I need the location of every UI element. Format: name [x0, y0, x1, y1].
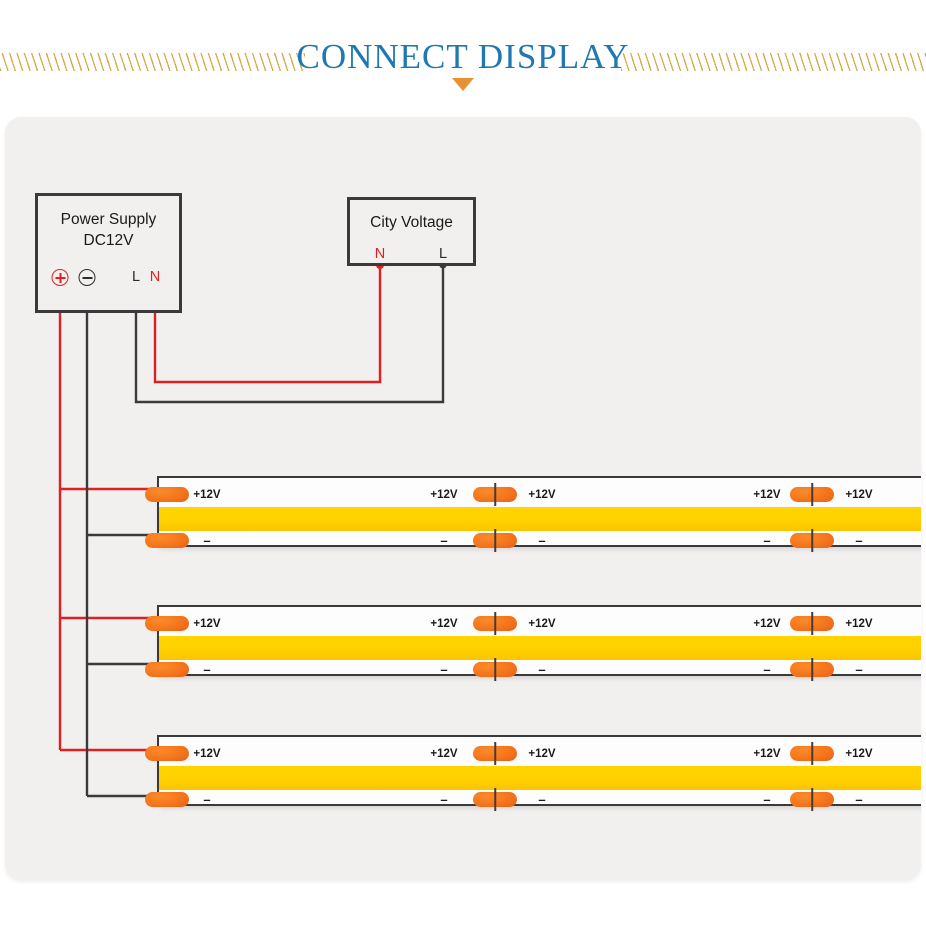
cut-line-marker [811, 788, 813, 811]
strip-label-minus: – [763, 533, 770, 548]
strip-label-plus: +12V [845, 618, 872, 630]
strip-label-minus: – [763, 662, 770, 677]
strip-label-minus: – [763, 792, 770, 807]
solder-pad-positive[interactable] [145, 746, 189, 761]
strip-label-plus: +12V [528, 748, 555, 760]
strip-label-plus: +12V [430, 748, 457, 760]
triangle-down-icon [452, 78, 474, 91]
terminal-label-city-neutral: N [375, 247, 385, 262]
strip-label-plus: +12V [528, 489, 555, 501]
strip-label-plus: +12V [753, 489, 780, 501]
strip-label-minus: – [538, 533, 545, 548]
cut-line-marker [811, 612, 813, 635]
strip-label-plus: +12V [193, 748, 220, 760]
strip-label-plus: +12V [528, 618, 555, 630]
cob-light-band [159, 766, 921, 790]
strip-label-plus: +12V [430, 489, 457, 501]
wiring-diagram: Power Supply DC12V L N City Voltage N L … [5, 117, 921, 880]
solder-pad-negative[interactable] [145, 533, 189, 548]
strip-label-minus: – [538, 792, 545, 807]
strip-label-plus: +12V [753, 618, 780, 630]
cut-line-marker [494, 788, 496, 811]
cut-line-marker [494, 612, 496, 635]
solder-pad-negative[interactable] [145, 792, 189, 807]
led-strip-row-1[interactable]: +12V – +12V – +12V – +12V – +12V – [157, 476, 921, 547]
solder-pad-negative[interactable] [145, 662, 189, 677]
strip-label-minus: – [855, 792, 862, 807]
cob-light-band [159, 636, 921, 660]
strip-label-plus: +12V [845, 748, 872, 760]
cut-line-marker [811, 658, 813, 681]
strip-label-plus: +12V [845, 489, 872, 501]
terminal-label-psu-neutral: N [150, 270, 160, 285]
strip-label-minus: – [440, 792, 447, 807]
terminal-negative-icon [79, 269, 96, 286]
cut-line-marker [494, 483, 496, 506]
diagram-card: Power Supply DC12V L N City Voltage N L … [5, 117, 921, 880]
solder-pad-positive[interactable] [145, 487, 189, 502]
strip-label-minus: – [855, 662, 862, 677]
strip-label-minus: – [203, 662, 210, 677]
terminal-positive-icon [52, 269, 69, 286]
cut-line-marker [494, 742, 496, 765]
city-voltage-title: City Voltage [350, 212, 473, 233]
cut-line-marker [811, 529, 813, 552]
terminal-label-psu-live: L [132, 270, 140, 285]
strip-label-minus: – [855, 533, 862, 548]
page-title: CONNECT DISPLAY [0, 36, 926, 78]
strip-label-minus: – [538, 662, 545, 677]
strip-label-minus: – [203, 533, 210, 548]
cut-line-marker [494, 529, 496, 552]
strip-label-minus: – [440, 662, 447, 677]
terminal-label-city-live: L [439, 247, 447, 262]
city-voltage-box: City Voltage [347, 197, 476, 266]
cut-line-marker [811, 742, 813, 765]
led-strip-row-2[interactable]: +12V – +12V – +12V – +12V – +12V – [157, 605, 921, 676]
strip-label-plus: +12V [193, 489, 220, 501]
strip-label-plus: +12V [753, 748, 780, 760]
page-header: CONNECT DISPLAY [0, 0, 926, 110]
cut-line-marker [811, 483, 813, 506]
power-supply-box: Power Supply DC12V [35, 193, 182, 313]
solder-pad-positive[interactable] [145, 616, 189, 631]
strip-label-minus: – [440, 533, 447, 548]
power-supply-title: Power Supply [38, 209, 179, 230]
strip-label-plus: +12V [193, 618, 220, 630]
cob-light-band [159, 507, 921, 531]
led-strip-row-3[interactable]: +12V – +12V – +12V – +12V – +12V – [157, 735, 921, 806]
strip-label-plus: +12V [430, 618, 457, 630]
power-supply-voltage: DC12V [38, 230, 179, 251]
cut-line-marker [494, 658, 496, 681]
strip-label-minus: – [203, 792, 210, 807]
